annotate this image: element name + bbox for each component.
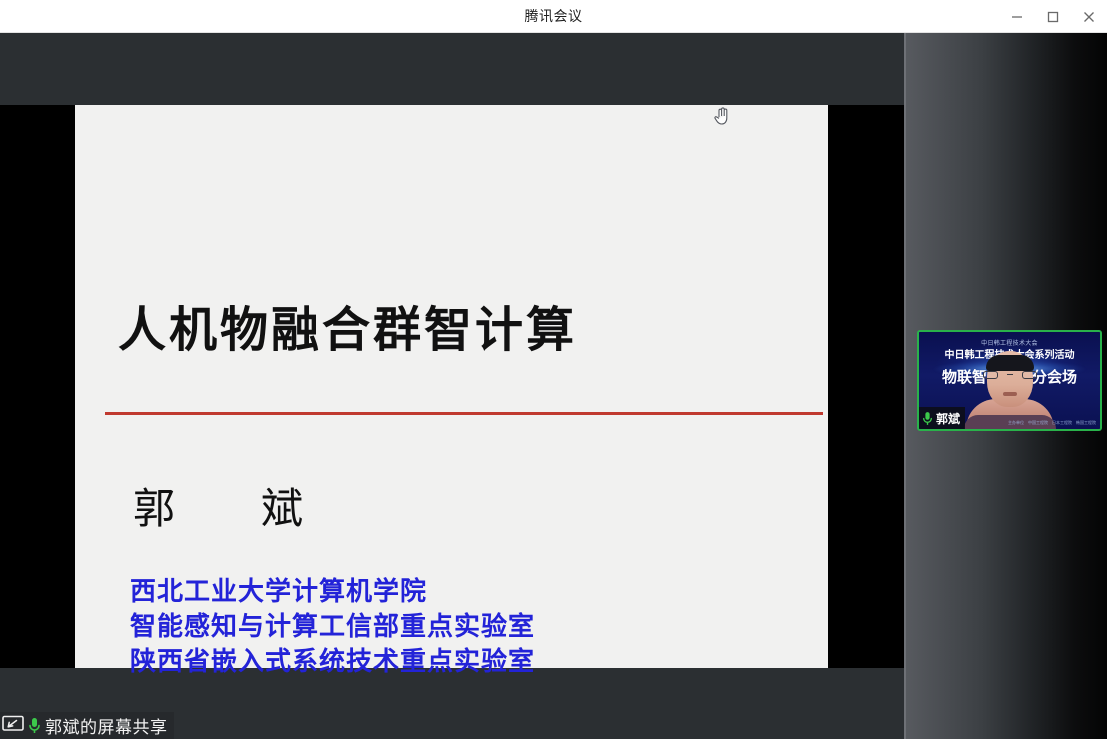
slide-affiliations: 西北工业大学计算机学院 智能感知与计算工信部重点实验室 陕西省嵌入式系统技术重点… bbox=[130, 575, 535, 680]
person-mouth bbox=[1003, 392, 1017, 396]
microphone-icon bbox=[28, 717, 41, 734]
screen-share-label: 郭斌的屏幕共享 bbox=[0, 712, 174, 739]
affiliation-line: 陕西省嵌入式系统技术重点实验室 bbox=[130, 645, 535, 680]
window-titlebar: 腾讯会议 bbox=[0, 0, 1107, 33]
slide-author-name: 郭 斌 bbox=[133, 475, 325, 536]
screen-share-label-text: 郭斌的屏幕共享 bbox=[45, 713, 168, 738]
minimize-button[interactable] bbox=[999, 0, 1035, 33]
person-glasses-bridge bbox=[1007, 374, 1013, 375]
maximize-button[interactable] bbox=[1035, 0, 1071, 33]
close-button[interactable] bbox=[1071, 0, 1107, 33]
affiliation-line: 智能感知与计算工信部重点实验室 bbox=[130, 610, 535, 645]
person-glasses-right bbox=[1022, 371, 1037, 379]
microphone-icon bbox=[922, 411, 933, 426]
participant-filmstrip[interactable]: 中日韩工程技术大会 中日韩工程技术大会系列活动 物联智能 分会场 主办单位 中国… bbox=[904, 33, 1107, 739]
affiliation-line: 西北工业大学计算机学院 bbox=[130, 575, 535, 610]
window-title: 腾讯会议 bbox=[525, 6, 583, 26]
participant-webcam-person bbox=[964, 355, 1056, 429]
slide-divider bbox=[105, 412, 823, 415]
window-controls bbox=[999, 0, 1107, 33]
screen-share-icon bbox=[2, 715, 24, 737]
shared-screen-stage[interactable]: 人机物融合群智计算 郭 斌 西北工业大学计算机学院 智能感知与计算工信部重点实验… bbox=[0, 33, 904, 739]
participant-video-tile[interactable]: 中日韩工程技术大会 中日韩工程技术大会系列活动 物联智能 分会场 主办单位 中国… bbox=[917, 330, 1102, 431]
shared-slide: 人机物融合群智计算 郭 斌 西北工业大学计算机学院 智能感知与计算工信部重点实验… bbox=[75, 105, 828, 668]
vb-footer-text: 主办单位 中国工程院 日本工程院 韩国工程院 bbox=[1008, 420, 1096, 426]
hand-cursor-icon bbox=[712, 105, 732, 127]
person-glasses-left bbox=[983, 371, 998, 379]
participant-name: 郭斌 bbox=[936, 410, 960, 427]
person-hair bbox=[986, 355, 1034, 371]
stage-top-strip bbox=[0, 33, 904, 105]
participant-nameplate: 郭斌 bbox=[919, 407, 965, 429]
slide-title: 人机物融合群智计算 bbox=[118, 290, 577, 360]
